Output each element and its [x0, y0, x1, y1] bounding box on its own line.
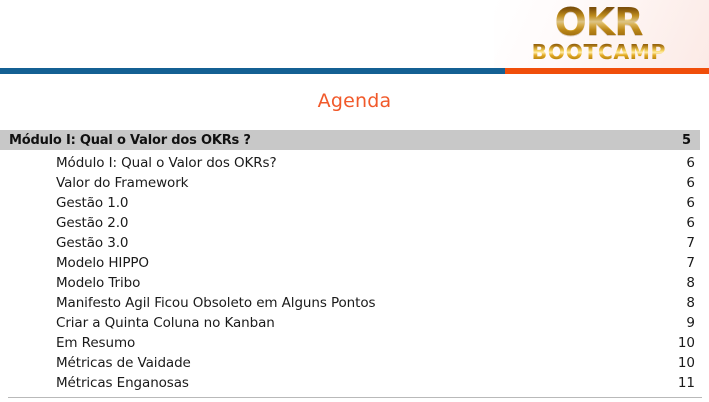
toc-item-page-number: 9 — [677, 315, 695, 331]
toc-item[interactable]: Manifesto Agil Ficou Obsoleto em Alguns … — [0, 293, 709, 313]
toc-item[interactable]: Métricas Enganosas11 — [0, 373, 709, 393]
toc-item-label: Modelo HIPPO — [56, 255, 149, 271]
toc-item[interactable]: Métricas de Vaidade10 — [0, 353, 709, 373]
toc-section-heading-page: 5 — [682, 133, 691, 148]
toc-item[interactable]: Gestão 2.06 — [0, 213, 709, 233]
page-title: Agenda — [0, 90, 709, 112]
toc-item[interactable]: Gestão 1.06 — [0, 193, 709, 213]
bottom-divider-rule — [8, 397, 702, 398]
toc-section-heading-label: Módulo I: Qual o Valor dos OKRs ? — [9, 133, 251, 148]
toc-item-label: Modelo Tribo — [56, 275, 140, 291]
toc-item-label: Métricas Enganosas — [56, 375, 189, 391]
toc-item-page-number: 6 — [677, 155, 695, 171]
toc-item[interactable]: Gestão 3.07 — [0, 233, 709, 253]
divider-blue-segment — [0, 68, 505, 74]
toc-item-page-number: 11 — [677, 375, 695, 391]
toc-item-page-number: 6 — [677, 175, 695, 191]
toc-item-page-number: 10 — [677, 335, 695, 351]
toc-item[interactable]: Módulo I: Qual o Valor dos OKRs?6 — [0, 153, 709, 173]
toc-item[interactable]: Criar a Quinta Coluna no Kanban9 — [0, 313, 709, 333]
toc-item-label: Manifesto Agil Ficou Obsoleto em Alguns … — [56, 295, 375, 311]
toc-item-label: Métricas de Vaidade — [56, 355, 191, 371]
toc-item-page-number: 7 — [677, 235, 695, 251]
toc-item-label: Gestão 3.0 — [56, 235, 128, 251]
toc-item-label: Módulo I: Qual o Valor dos OKRs? — [56, 155, 277, 171]
toc-item-list: Módulo I: Qual o Valor dos OKRs?6Valor d… — [0, 153, 709, 393]
header-band: OKR BOOTCAMP — [0, 0, 709, 68]
toc-item-label: Em Resumo — [56, 335, 135, 351]
toc-item[interactable]: Modelo HIPPO7 — [0, 253, 709, 273]
toc-item[interactable]: Em Resumo10 — [0, 333, 709, 353]
toc-item-label: Gestão 2.0 — [56, 215, 128, 231]
logo-okr-text: OKR — [554, 4, 642, 40]
toc-item-label: Criar a Quinta Coluna no Kanban — [56, 315, 275, 331]
toc-item-page-number: 8 — [677, 295, 695, 311]
okr-bootcamp-logo: OKR BOOTCAMP — [496, 2, 701, 64]
toc-section-heading[interactable]: Módulo I: Qual o Valor dos OKRs ? 5 — [0, 130, 700, 150]
toc-item-page-number: 10 — [677, 355, 695, 371]
logo-bootcamp-text: BOOTCAMP — [531, 42, 665, 62]
header-divider-bar — [0, 68, 709, 74]
toc-item[interactable]: Modelo Tribo8 — [0, 273, 709, 293]
toc-item-page-number: 8 — [677, 275, 695, 291]
table-of-contents: Módulo I: Qual o Valor dos OKRs ? 5 Módu… — [0, 130, 709, 393]
toc-item-page-number: 6 — [677, 195, 695, 211]
toc-item-page-number: 7 — [677, 255, 695, 271]
toc-item[interactable]: Valor do Framework6 — [0, 173, 709, 193]
toc-item-label: Gestão 1.0 — [56, 195, 128, 211]
divider-orange-segment — [505, 68, 709, 74]
toc-item-label: Valor do Framework — [56, 175, 188, 191]
toc-item-page-number: 6 — [677, 215, 695, 231]
